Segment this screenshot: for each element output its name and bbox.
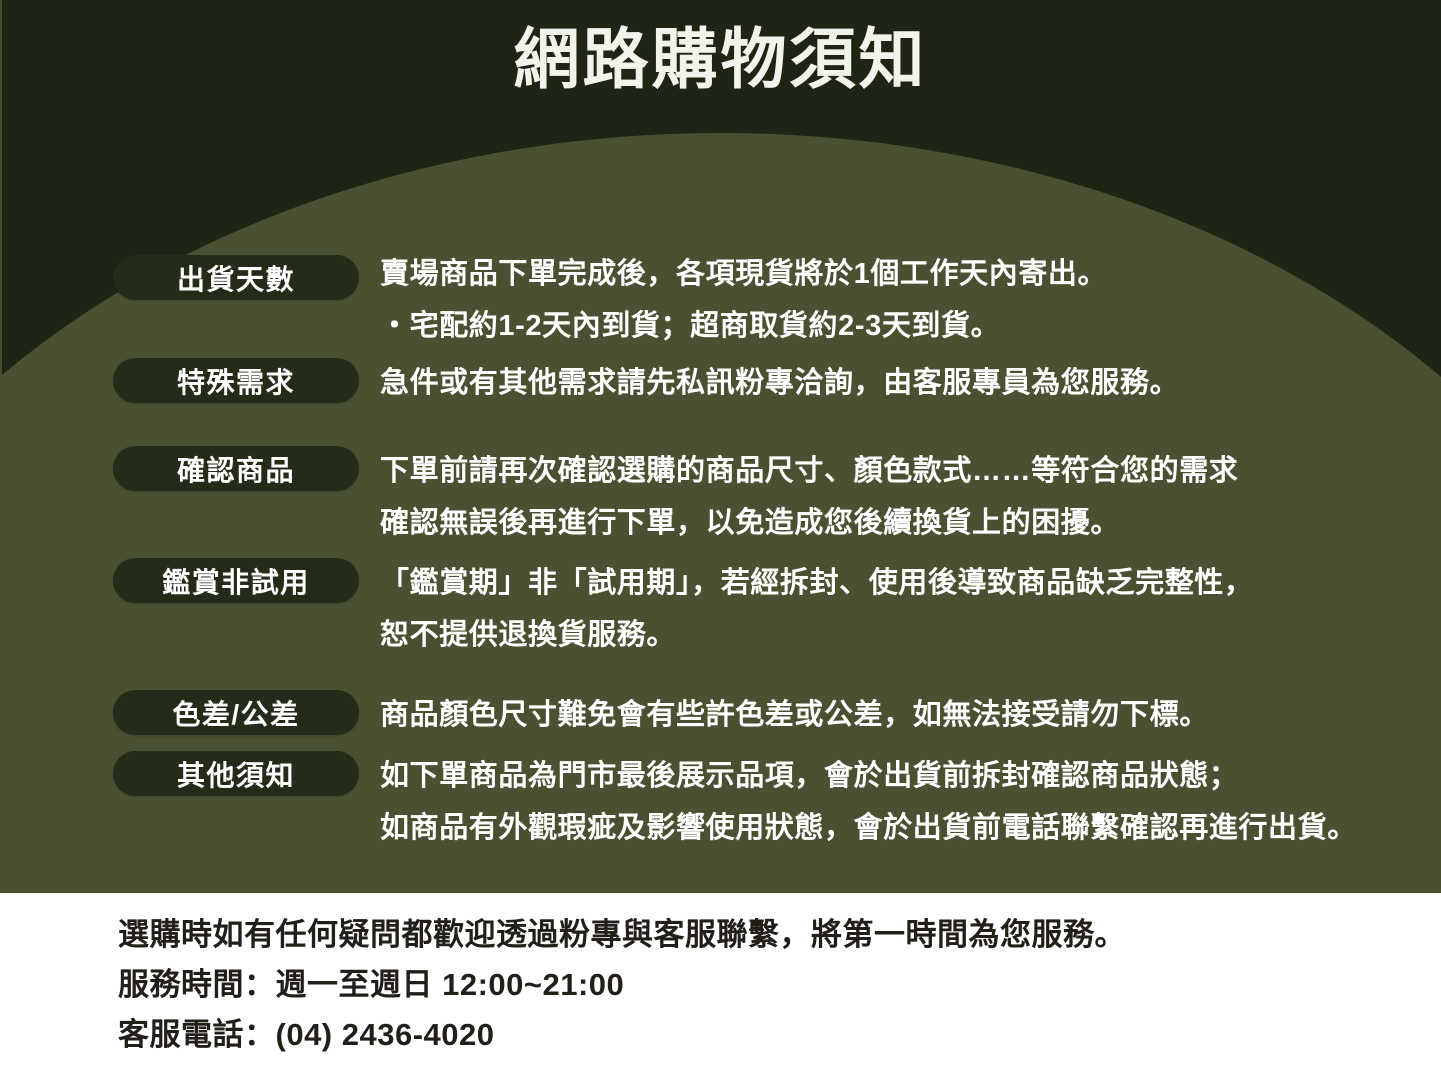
section-label-shipping-days: 出貨天數 — [113, 255, 359, 300]
footer-contact-block: 選購時如有任何疑問都歡迎透過粉專與客服聯繫，將第一時間為您服務。 服務時間：週一… — [118, 910, 1126, 1060]
section-label-color-tolerance: 色差/公差 — [113, 690, 359, 735]
section-body-inspection-not-trial: 「鑑賞期」非「試用期」，若經拆封、使用後導致商品缺乏完整性， 恕不提供退換貨服務… — [380, 557, 1420, 661]
body-line: 急件或有其他需求請先私訊粉專洽詢，由客服專員為您服務。 — [380, 357, 1420, 409]
section-label-inspection-not-trial: 鑑賞非試用 — [113, 558, 359, 603]
body-line: 下單前請再次確認選購的商品尺寸、顏色款式……等符合您的需求 — [380, 445, 1420, 497]
body-line: 「鑑賞期」非「試用期」，若經拆封、使用後導致商品缺乏完整性， — [380, 557, 1420, 609]
section-label-other-notes: 其他須知 — [113, 751, 359, 796]
footer-line-service-phone: 客服電話：(04) 2436-4020 — [118, 1010, 1126, 1060]
section-body-other-notes: 如下單商品為門市最後展示品項，會於出貨前拆封確認商品狀態； 如商品有外觀瑕疵及影… — [380, 750, 1420, 854]
footer-line-contact-invite: 選購時如有任何疑問都歡迎透過粉專與客服聯繫，將第一時間為您服務。 — [118, 910, 1126, 960]
notice-page: 網路購物須知 出貨天數 賣場商品下單完成後，各項現貨將於1個工作天內寄出。 ・宅… — [0, 0, 1441, 1080]
notice-sections: 出貨天數 賣場商品下單完成後，各項現貨將於1個工作天內寄出。 ・宅配約1-2天內… — [0, 0, 1441, 893]
section-body-special-requests: 急件或有其他需求請先私訊粉專洽詢，由客服專員為您服務。 — [380, 357, 1420, 409]
section-body-confirm-product: 下單前請再次確認選購的商品尺寸、顏色款式……等符合您的需求 確認無誤後再進行下單… — [380, 445, 1420, 549]
body-line: 如商品有外觀瑕疵及影響使用狀態，會於出貨前電話聯繫確認再進行出貨。 — [380, 802, 1420, 854]
section-body-shipping-days: 賣場商品下單完成後，各項現貨將於1個工作天內寄出。 ・宅配約1-2天內到貨；超商… — [380, 248, 1420, 352]
section-label-confirm-product: 確認商品 — [113, 446, 359, 491]
body-line: 商品顏色尺寸難免會有些許色差或公差，如無法接受請勿下標。 — [380, 689, 1420, 741]
section-label-special-requests: 特殊需求 — [113, 358, 359, 403]
body-line: 賣場商品下單完成後，各項現貨將於1個工作天內寄出。 — [380, 248, 1420, 300]
footer-line-service-hours: 服務時間：週一至週日 12:00~21:00 — [118, 960, 1126, 1010]
body-line: 如下單商品為門市最後展示品項，會於出貨前拆封確認商品狀態； — [380, 750, 1420, 802]
footer-panel: 選購時如有任何疑問都歡迎透過粉專與客服聯繫，將第一時間為您服務。 服務時間：週一… — [0, 893, 1441, 1080]
body-line: 恕不提供退換貨服務。 — [380, 609, 1420, 661]
body-line: ・宅配約1-2天內到貨；超商取貨約2-3天到貨。 — [380, 300, 1420, 352]
body-line: 確認無誤後再進行下單，以免造成您後續換貨上的困擾。 — [380, 497, 1420, 549]
section-body-color-tolerance: 商品顏色尺寸難免會有些許色差或公差，如無法接受請勿下標。 — [380, 689, 1420, 741]
